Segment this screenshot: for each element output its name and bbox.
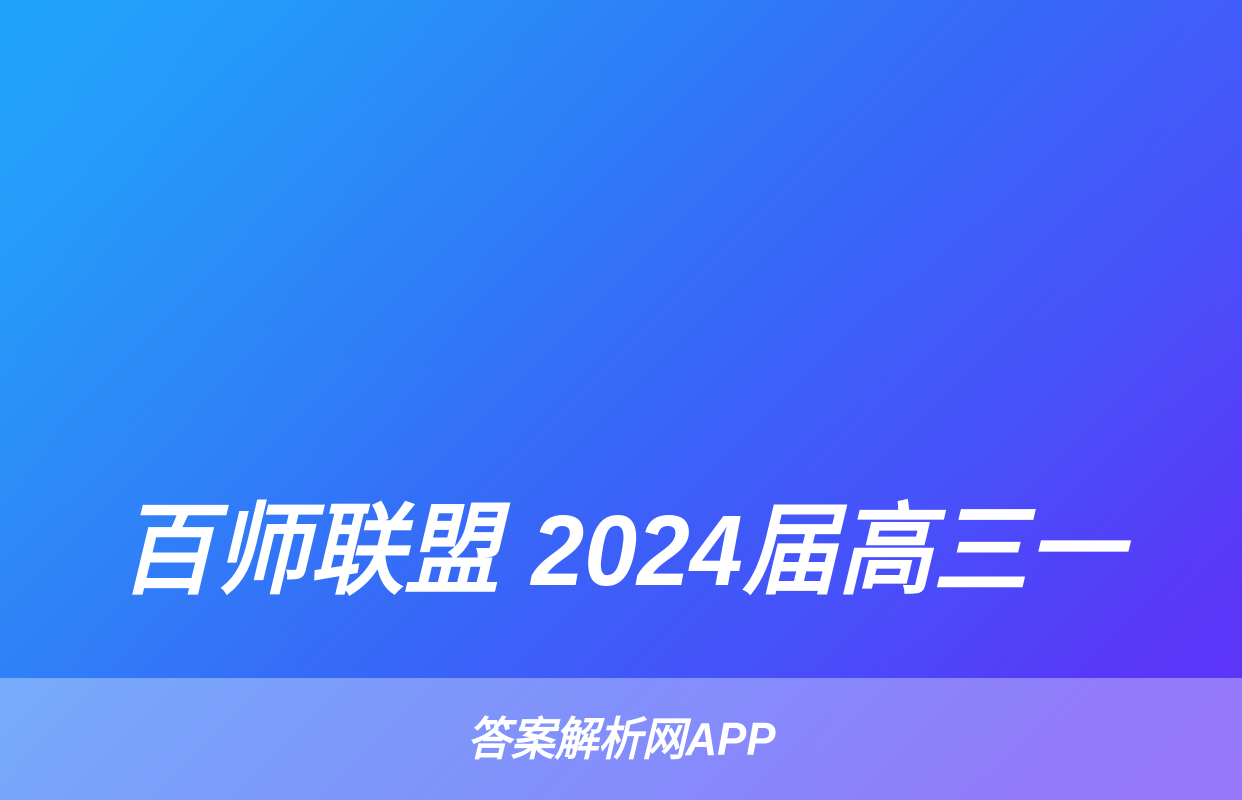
app-watermark-label: 答案解析网APP: [467, 714, 775, 764]
poster-card: 百师联盟 2024届高三一 轮复习联考(五)5 安徽卷 化学答案 答案解析网AP…: [0, 0, 1242, 800]
page-title-line-1: 百师联盟 2024届高三一: [98, 476, 1145, 626]
footer-watermark-band: 答案解析网APP: [0, 678, 1242, 800]
